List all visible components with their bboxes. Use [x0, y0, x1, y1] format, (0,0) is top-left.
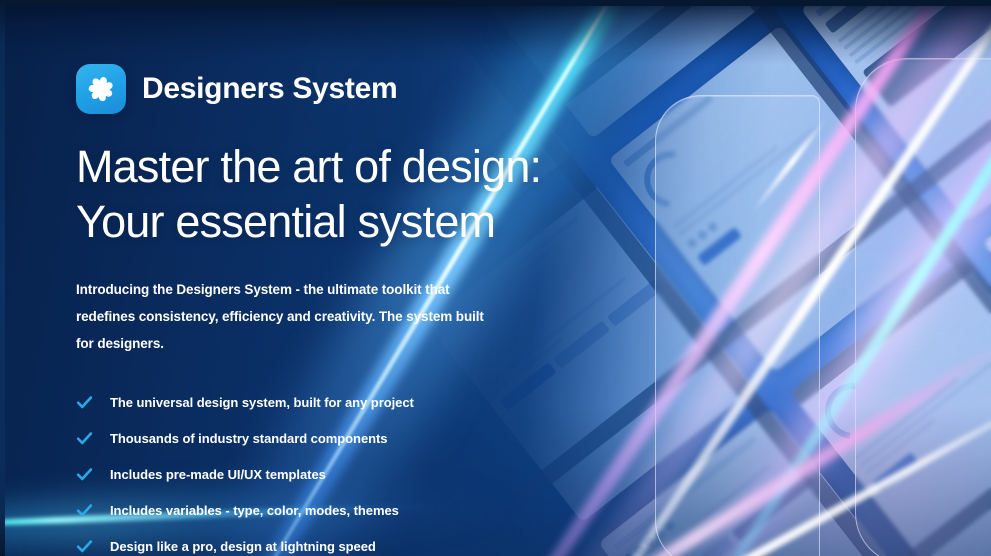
brand-name: Designers System [142, 72, 397, 106]
check-icon [76, 430, 93, 447]
check-icon [76, 466, 93, 483]
list-item-label: Thousands of industry standard component… [110, 431, 387, 446]
page-title: Master the art of design: Your essential… [76, 140, 636, 250]
list-item-label: Design like a pro, design at lightning s… [110, 539, 376, 554]
list-item: Includes variables - type, color, modes,… [76, 493, 636, 529]
list-item: Includes pre-made UI/UX templates [76, 457, 636, 493]
hero-content: Designers System Master the art of desig… [76, 64, 636, 556]
check-icon [76, 502, 93, 519]
top-vignette [0, 0, 991, 64]
list-item: The universal design system, built for a… [76, 385, 636, 421]
list-item-label: Includes pre-made UI/UX templates [110, 467, 326, 482]
check-icon [76, 394, 93, 411]
pinwheel-flower-icon [76, 64, 126, 114]
feature-list: The universal design system, built for a… [76, 385, 636, 556]
headline-line-1: Master the art of design: [76, 140, 636, 195]
list-item-label: Includes variables - type, color, modes,… [110, 503, 399, 518]
list-item: Design like a pro, design at lightning s… [76, 529, 636, 556]
hero-description: Introducing the Designers System - the u… [76, 276, 496, 357]
list-item-label: The universal design system, built for a… [110, 395, 414, 410]
check-icon [76, 538, 93, 555]
list-item: Thousands of industry standard component… [76, 421, 636, 457]
brand-lockup: Designers System [76, 64, 636, 114]
top-edge-band [0, 0, 991, 6]
promo-banner: Designers System Master the art of desig… [0, 0, 991, 556]
headline-line-2: Your essential system [76, 195, 636, 250]
left-edge-band [0, 0, 5, 556]
